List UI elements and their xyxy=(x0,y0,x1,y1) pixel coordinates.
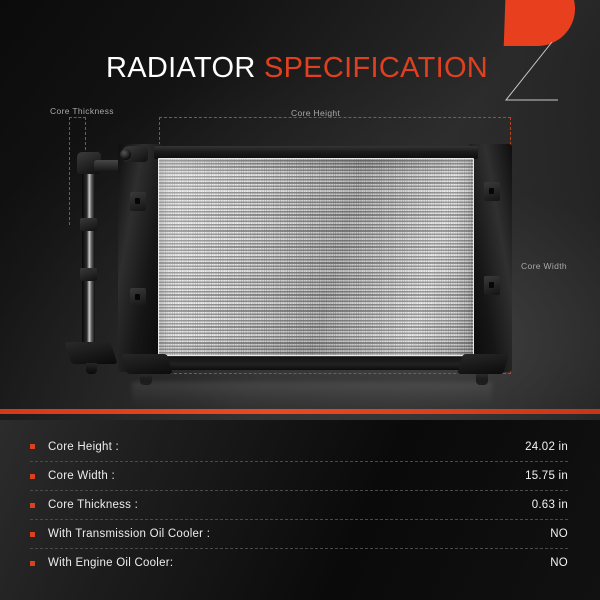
spec-value: 15.75 in xyxy=(525,470,568,482)
left-end-tank xyxy=(118,144,162,372)
spec-row: With Engine Oil Cooler: NO xyxy=(30,548,568,577)
right-end-tank xyxy=(468,144,512,372)
spec-row: Core Thickness : 0.63 in xyxy=(30,490,568,519)
mounting-tab xyxy=(130,288,146,307)
side-mount-foot xyxy=(86,363,97,374)
spec-value: 24.02 in xyxy=(525,441,568,453)
title-accent: SPECIFICATION xyxy=(264,52,488,84)
side-mount-clip xyxy=(80,268,97,281)
specification-list: Core Height : 24.02 in Core Width : 15.7… xyxy=(0,420,600,577)
spec-row: Core Height : 24.02 in xyxy=(30,432,568,461)
bullet-icon xyxy=(30,532,35,537)
decorative-diagonal-line xyxy=(480,40,558,106)
spec-value: NO xyxy=(550,557,568,569)
specification-table: Core Height : 24.02 in Core Width : 15.7… xyxy=(0,420,600,600)
side-lower-brace xyxy=(64,342,117,364)
bullet-icon xyxy=(30,503,35,508)
header: RADIATOR SPECIFICATION xyxy=(0,0,600,104)
spec-value: NO xyxy=(550,528,568,540)
lower-brace-left xyxy=(121,354,173,374)
spec-label: With Engine Oil Cooler: xyxy=(48,557,173,569)
product-image-stage: Core Thickness Core Height Core Width xyxy=(0,100,600,410)
inlet-neck xyxy=(122,146,148,162)
spec-row: Core Width : 15.75 in xyxy=(30,461,568,490)
mounting-tab xyxy=(484,182,500,201)
dimension-label-core-thickness: Core Thickness xyxy=(50,106,114,116)
bottom-tank xyxy=(154,357,478,370)
dimension-label-core-width: Core Width xyxy=(521,261,567,271)
mounting-tab xyxy=(484,276,500,295)
spec-label: Core Thickness : xyxy=(48,499,138,511)
radiator-core-fins xyxy=(158,158,474,356)
page-title: RADIATOR SPECIFICATION xyxy=(106,52,488,85)
side-core-edge xyxy=(82,164,95,356)
radiator-front-view xyxy=(118,138,512,376)
decorative-blob-shape xyxy=(504,0,577,46)
title-primary: RADIATOR xyxy=(106,52,256,84)
bullet-icon xyxy=(30,444,35,449)
side-mount-clip xyxy=(80,218,97,231)
lower-brace-right xyxy=(457,354,509,374)
spec-row: With Transmission Oil Cooler : NO xyxy=(30,519,568,548)
bullet-icon xyxy=(30,561,35,566)
spec-label: With Transmission Oil Cooler : xyxy=(48,528,210,540)
spec-value: 0.63 in xyxy=(532,499,568,511)
mounting-tab xyxy=(130,192,146,211)
accent-divider xyxy=(0,409,600,414)
bullet-icon xyxy=(30,474,35,479)
product-reflection xyxy=(132,382,492,406)
spec-label: Core Width : xyxy=(48,470,115,482)
product-spec-page: RADIATOR SPECIFICATION Core Thickness Co… xyxy=(0,0,600,600)
spec-label: Core Height : xyxy=(48,441,119,453)
